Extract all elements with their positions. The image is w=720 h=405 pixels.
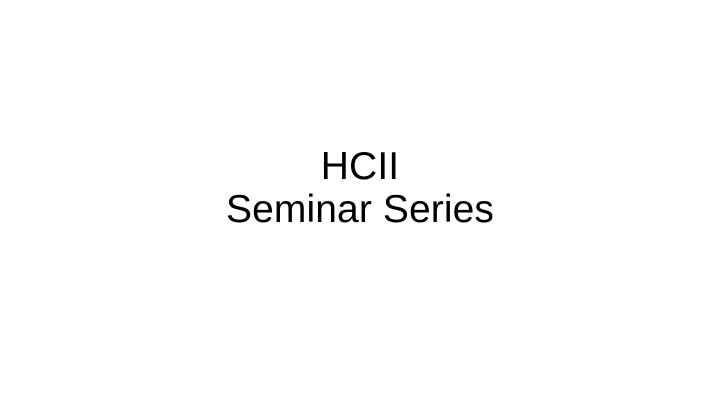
slide-title: HCII Seminar Series — [0, 145, 720, 231]
title-line-1: HCII — [0, 145, 720, 188]
slide-canvas: HCII Seminar Series — [0, 0, 720, 405]
title-line-2: Seminar Series — [0, 188, 720, 231]
